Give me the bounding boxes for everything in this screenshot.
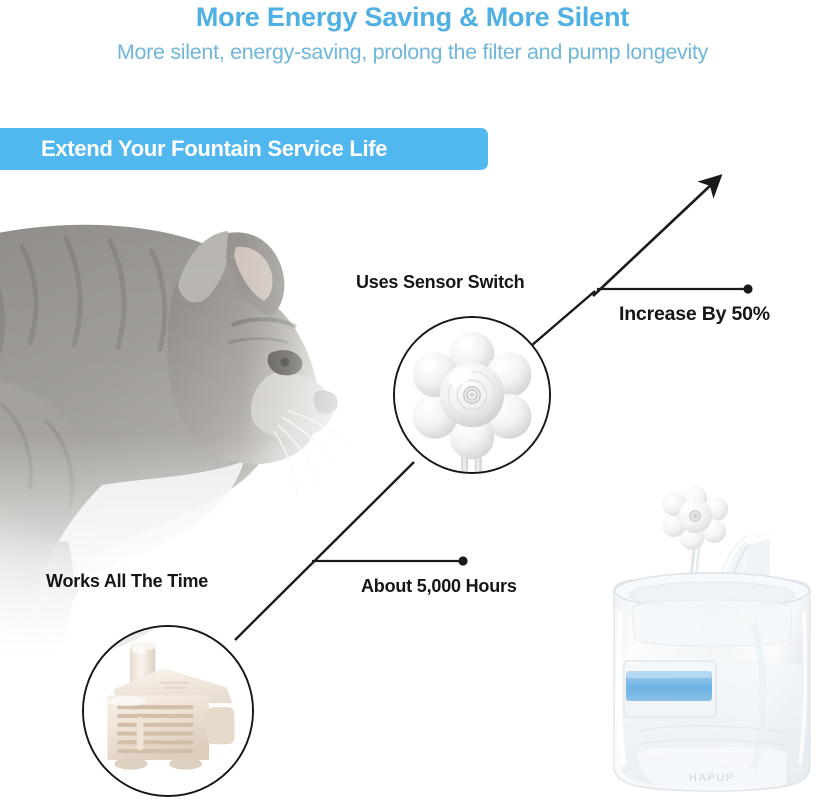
hours-leader-dot [458,556,467,565]
callout-increase-by-50: Increase By 50% [619,303,770,326]
section-banner-label: Extend Your Fountain Service Life [41,136,387,162]
water-pump-inset [82,625,254,797]
product-photo: HAPUP [604,483,820,800]
growth-arrow [593,183,713,296]
section-banner: Extend Your Fountain Service Life [0,128,488,170]
product-tank [614,573,810,791]
page-subtitle: More silent, energy-saving, prolong the … [0,40,825,65]
increase-leader-dot [743,284,752,293]
poster-canvas: More Energy Saving & More Silent More si… [0,0,825,800]
product-brand-label: HAPUP [689,772,735,784]
callout-uses-sensor-switch: Uses Sensor Switch [356,272,524,293]
cat-photo [0,185,402,665]
callout-works-all-the-time: Works All The Time [46,571,208,592]
sensor-to-pump-line [235,462,414,640]
sensor-switch-inset [393,316,551,474]
sensor-to-arrow-line [531,291,595,346]
page-title: More Energy Saving & More Silent [0,2,825,33]
callout-about-5000-hours: About 5,000 Hours [361,576,517,597]
